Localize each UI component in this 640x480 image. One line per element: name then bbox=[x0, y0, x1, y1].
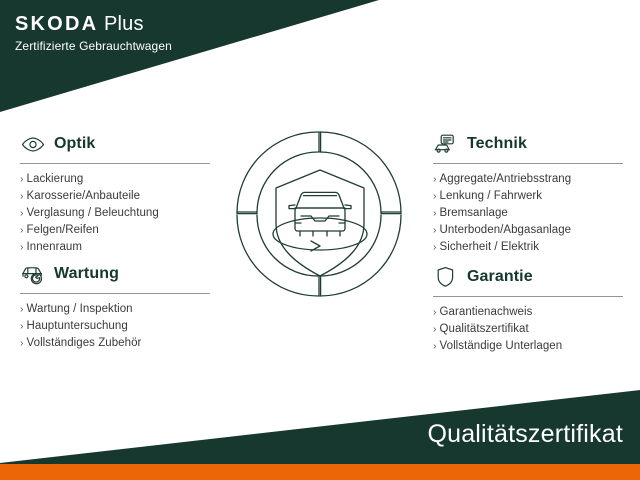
list-item: ›Felgen/Reifen bbox=[20, 222, 210, 239]
list-item: ›Verglasung / Beleuchtung bbox=[20, 205, 210, 222]
brand-title: SKODA Plus bbox=[15, 13, 172, 36]
section-wartung-header: Wartung bbox=[20, 261, 210, 287]
list-item-label: Innenraum bbox=[27, 241, 82, 253]
chevron-right-icon: › bbox=[20, 207, 24, 219]
section-optik-title: Optik bbox=[54, 135, 95, 153]
list-item-label: Hauptuntersuchung bbox=[27, 320, 128, 332]
chevron-right-icon: › bbox=[20, 224, 24, 236]
section-optik-list: ›Lackierung ›Karosserie/Anbauteile ›Verg… bbox=[20, 171, 210, 256]
section-technik: Technik ›Aggregate/Antriebsstrang ›Lenku… bbox=[433, 131, 623, 256]
list-item-label: Lenkung / Fahrwerk bbox=[440, 190, 543, 202]
list-item-label: Felgen/Reifen bbox=[27, 224, 99, 236]
list-item-label: Wartung / Inspektion bbox=[27, 303, 133, 315]
section-optik: Optik ›Lackierung ›Karosserie/Anbauteile… bbox=[20, 131, 210, 256]
section-garantie-title: Garantie bbox=[467, 268, 533, 286]
list-item-label: Lackierung bbox=[27, 173, 84, 185]
list-item: ›Lackierung bbox=[20, 171, 210, 188]
list-item: ›Aggregate/Antriebsstrang bbox=[433, 171, 623, 188]
certificate-page: SKODA Plus Zertifizierte Gebrauchtwagen … bbox=[0, 0, 640, 480]
brand-suffix: Plus bbox=[98, 13, 143, 35]
chevron-right-icon: › bbox=[433, 207, 437, 219]
list-item: ›Sicherheit / Elektrik bbox=[433, 239, 623, 256]
list-item: ›Vollständiges Zubehör bbox=[20, 335, 210, 352]
orange-bar bbox=[0, 464, 640, 480]
list-item-label: Garantienachweis bbox=[440, 306, 533, 318]
section-technik-list: ›Aggregate/Antriebsstrang ›Lenkung / Fah… bbox=[433, 171, 623, 256]
section-optik-header: Optik bbox=[20, 131, 210, 157]
chevron-right-icon: › bbox=[20, 241, 24, 253]
list-item: ›Garantienachweis bbox=[433, 304, 623, 321]
list-item: ›Wartung / Inspektion bbox=[20, 301, 210, 318]
section-wartung: Wartung ›Wartung / Inspektion ›Hauptunte… bbox=[20, 261, 210, 352]
list-item-label: Bremsanlage bbox=[440, 207, 508, 219]
car-service-icon bbox=[20, 262, 46, 286]
list-item: ›Karosserie/Anbauteile bbox=[20, 188, 210, 205]
chevron-right-icon: › bbox=[433, 173, 437, 185]
brand-tagline: Zertifizierte Gebrauchtwagen bbox=[15, 38, 172, 54]
chevron-right-icon: › bbox=[433, 306, 437, 318]
list-item-label: Vollständiges Zubehör bbox=[27, 337, 142, 349]
chevron-right-icon: › bbox=[433, 224, 437, 236]
section-garantie-header: Garantie bbox=[433, 264, 623, 290]
eye-icon bbox=[20, 132, 46, 156]
list-item-label: Unterboden/Abgasanlage bbox=[440, 224, 572, 236]
section-garantie-divider bbox=[433, 296, 623, 297]
list-item: ›Unterboden/Abgasanlage bbox=[433, 222, 623, 239]
section-garantie: Garantie ›Garantienachweis ›Qualitätszer… bbox=[433, 264, 623, 355]
section-wartung-title: Wartung bbox=[54, 265, 119, 283]
list-item: ›Qualitätszertifikat bbox=[433, 321, 623, 338]
list-item: ›Lenkung / Fahrwerk bbox=[433, 188, 623, 205]
chevron-right-icon: › bbox=[433, 340, 437, 352]
section-technik-title: Technik bbox=[467, 135, 527, 153]
section-wartung-list: ›Wartung / Inspektion ›Hauptuntersuchung… bbox=[20, 301, 210, 352]
car-technical-icon bbox=[433, 132, 459, 156]
list-item-label: Vollständige Unterlagen bbox=[440, 340, 563, 352]
chevron-right-icon: › bbox=[20, 173, 24, 185]
section-garantie-list: ›Garantienachweis ›Qualitätszertifikat ›… bbox=[433, 304, 623, 355]
section-wartung-divider bbox=[20, 293, 210, 294]
chevron-right-icon: › bbox=[20, 337, 24, 349]
chevron-right-icon: › bbox=[433, 190, 437, 202]
list-item-label: Aggregate/Antriebsstrang bbox=[440, 173, 572, 185]
car-shield-certification-emblem bbox=[233, 126, 407, 302]
chevron-right-icon: › bbox=[433, 241, 437, 253]
list-item: ›Bremsanlage bbox=[433, 205, 623, 222]
section-technik-divider bbox=[433, 163, 623, 164]
chevron-right-icon: › bbox=[20, 190, 24, 202]
footer-title: Qualitätszertifikat bbox=[427, 419, 623, 449]
chevron-right-icon: › bbox=[433, 323, 437, 335]
list-item-label: Verglasung / Beleuchtung bbox=[27, 207, 159, 219]
list-item: ›Vollständige Unterlagen bbox=[433, 338, 623, 355]
brand-mark: SKODA bbox=[15, 13, 98, 35]
section-optik-divider bbox=[20, 163, 210, 164]
list-item: ›Innenraum bbox=[20, 239, 210, 256]
section-technik-header: Technik bbox=[433, 131, 623, 157]
list-item-label: Sicherheit / Elektrik bbox=[440, 241, 539, 253]
list-item-label: Qualitätszertifikat bbox=[440, 323, 529, 335]
chevron-right-icon: › bbox=[20, 320, 24, 332]
list-item-label: Karosserie/Anbauteile bbox=[27, 190, 141, 202]
chevron-right-icon: › bbox=[20, 303, 24, 315]
brand-lockup: SKODA Plus Zertifizierte Gebrauchtwagen bbox=[15, 13, 172, 54]
list-item: ›Hauptuntersuchung bbox=[20, 318, 210, 335]
shield-icon bbox=[433, 265, 459, 289]
